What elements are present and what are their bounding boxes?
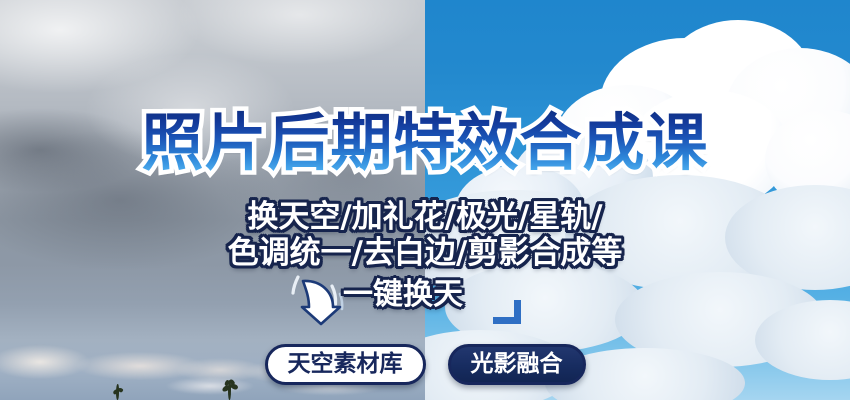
promo-banner: 照片后期特效合成课 照片后期特效合成课 换天空/加礼花/极光/星轨/ 色调统一/… bbox=[0, 0, 850, 400]
one-key-label: 一键换天 bbox=[343, 280, 463, 310]
page-title: 照片后期特效合成课 照片后期特效合成课 bbox=[0, 112, 850, 174]
page-title-fill: 照片后期特效合成课 bbox=[141, 106, 708, 179]
banner-content: 照片后期特效合成课 照片后期特效合成课 换天空/加礼花/极光/星轨/ 色调统一/… bbox=[0, 0, 850, 400]
curved-down-arrow-icon bbox=[288, 274, 350, 326]
badge-row: 天空素材库 光影融合 bbox=[0, 344, 850, 385]
badge-light-shadow-blend[interactable]: 光影融合 bbox=[448, 344, 586, 385]
badge-sky-library[interactable]: 天空素材库 bbox=[265, 344, 426, 385]
one-key-row: 一键换天 bbox=[0, 278, 850, 320]
corner-bracket-decoration bbox=[493, 300, 521, 324]
subtitle-line-1: 换天空/加礼花/极光/星轨/ bbox=[0, 202, 850, 233]
subtitle-line-2: 色调统一/去白边/剪影合成等 bbox=[0, 238, 850, 269]
badge-label: 天空素材库 bbox=[288, 353, 403, 376]
badge-label: 光影融合 bbox=[471, 353, 563, 376]
